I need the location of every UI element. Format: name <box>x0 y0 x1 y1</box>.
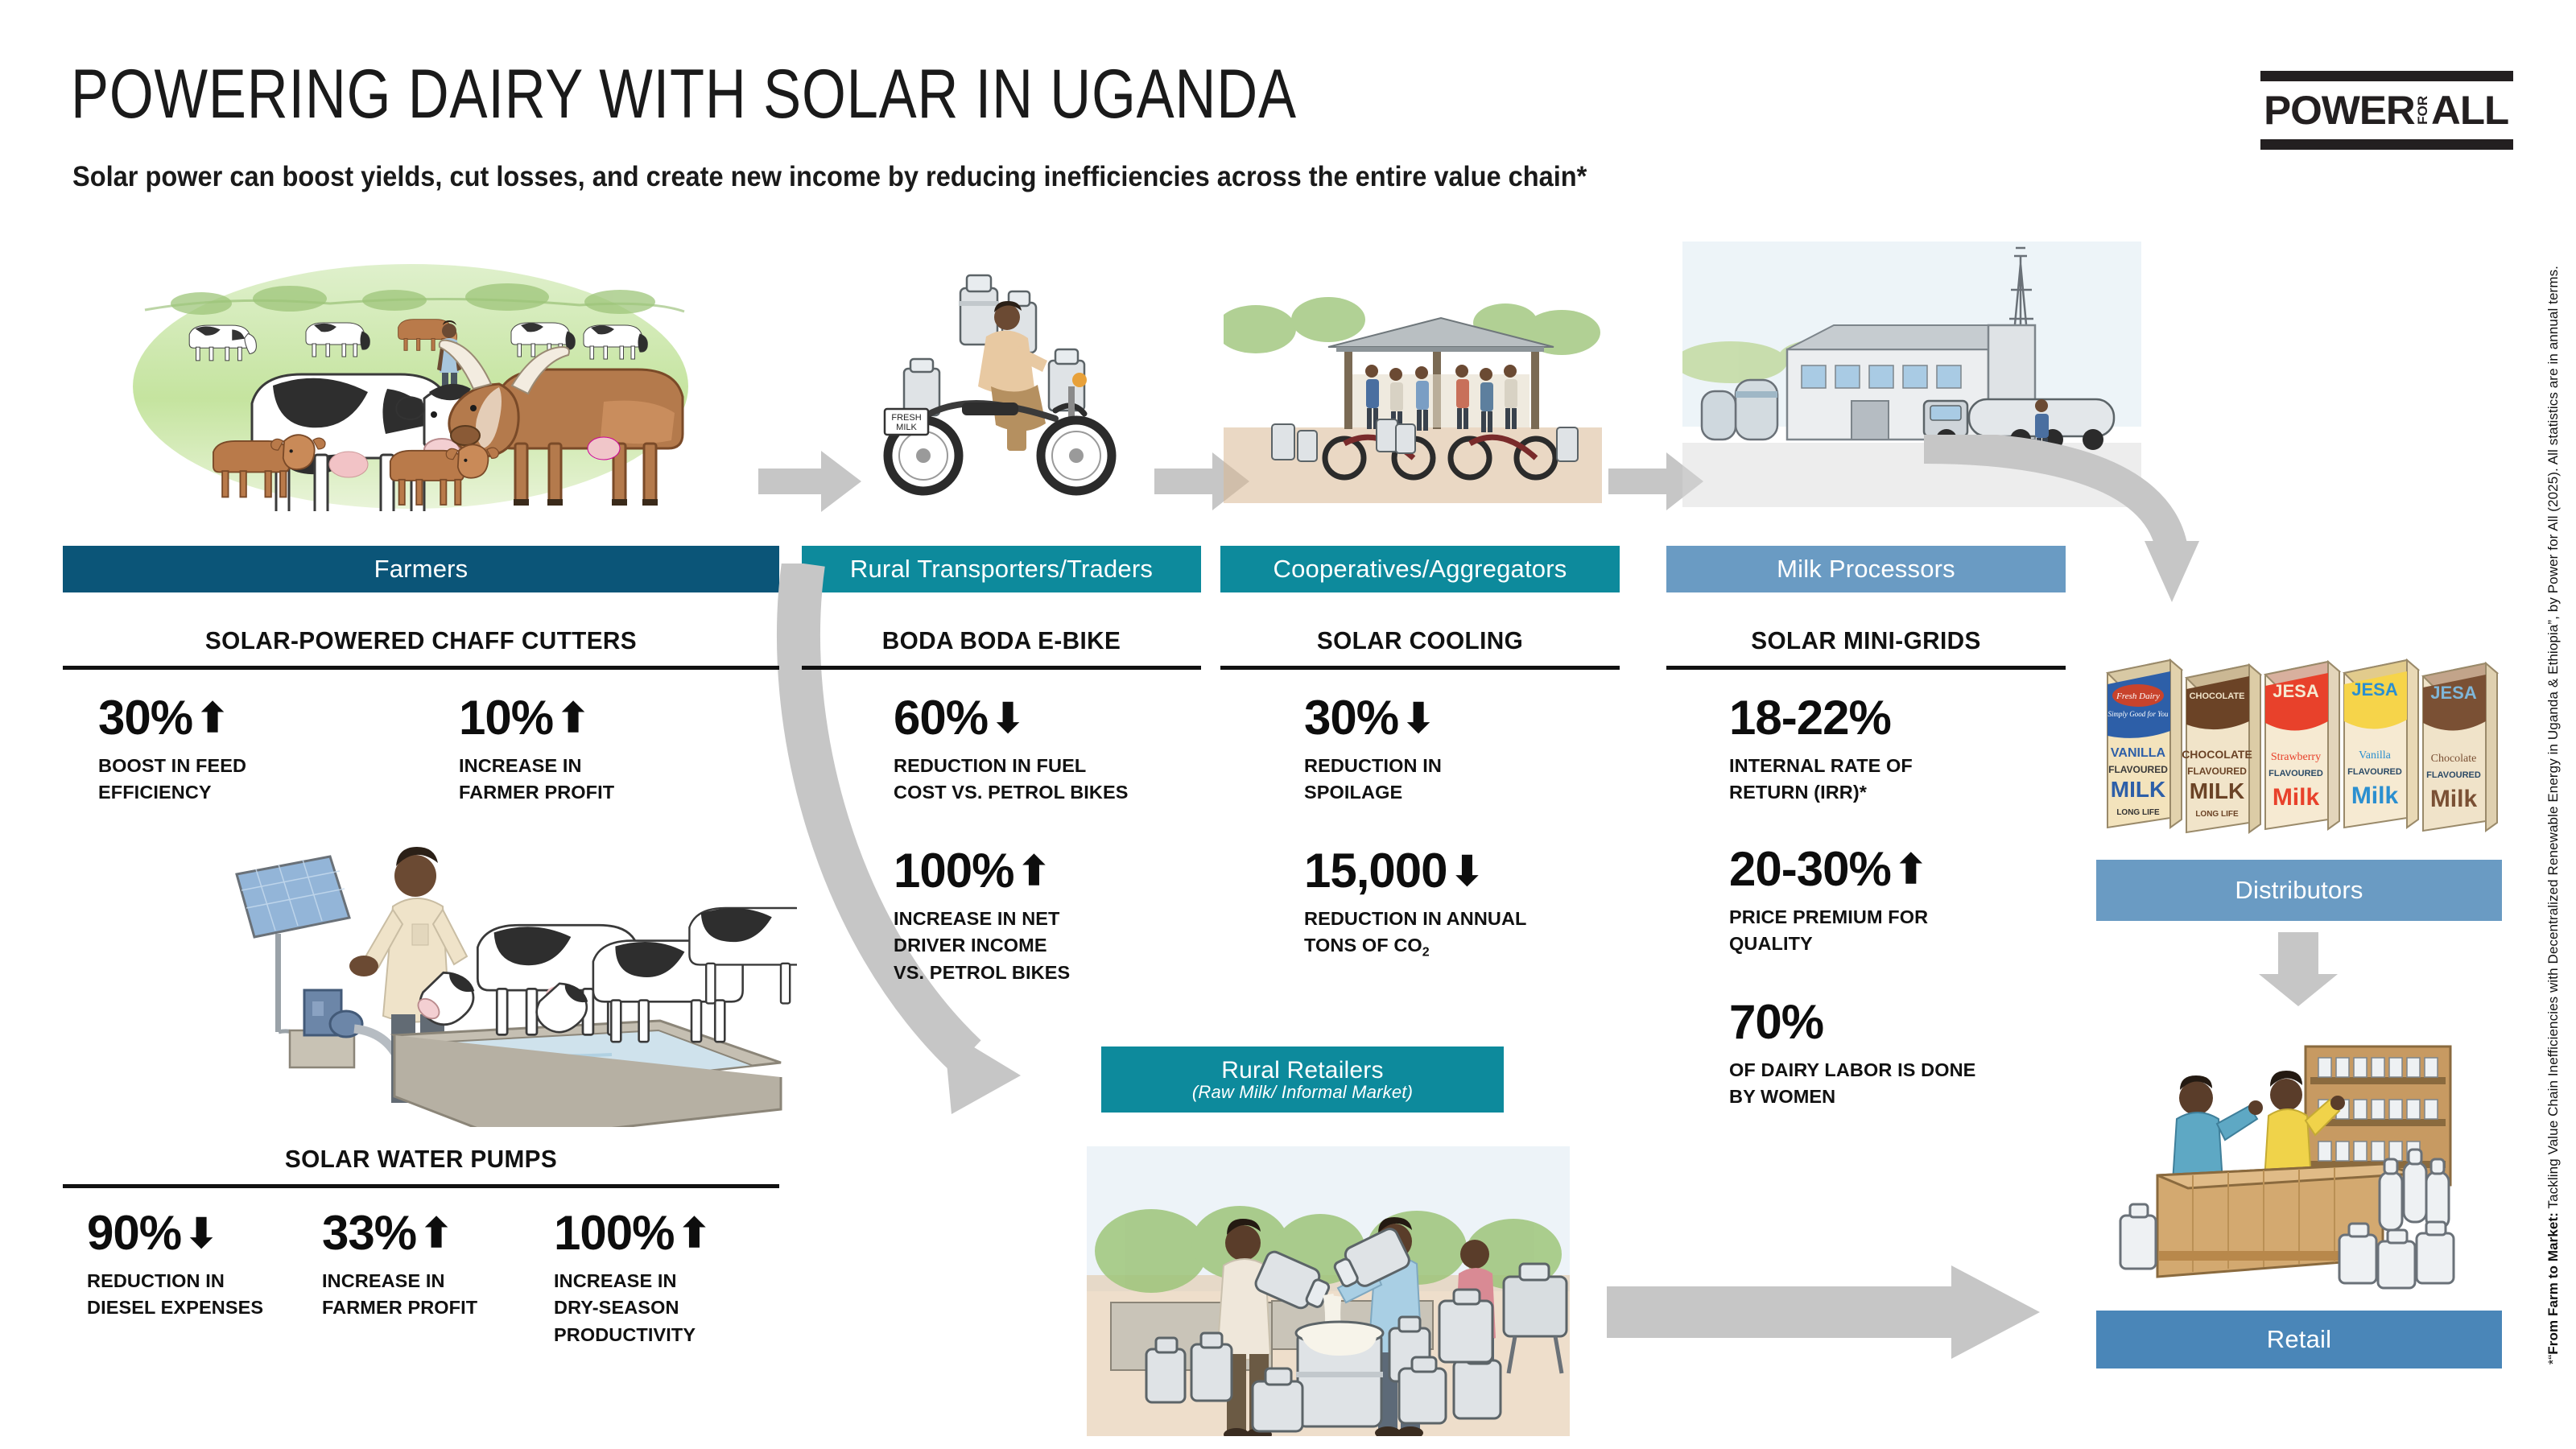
stat-price-premium-quality: 20-30% ⬆ PRICE PREMIUM FORQUALITY <box>1729 845 2067 958</box>
stage-bar-farmers[interactable]: Farmers <box>63 546 779 592</box>
retail-shop-illustration <box>2109 1014 2479 1304</box>
flow-arrow-distributors-to-retail <box>2246 932 2351 1006</box>
stat-value: 100% ⬆ <box>894 847 1216 895</box>
arrow-up-icon: ⬆ <box>419 1213 452 1253</box>
stat-value: 60% ⬇ <box>894 694 1216 742</box>
svg-text:MILK: MILK <box>2111 777 2165 802</box>
logo-bar-bottom <box>2260 139 2513 150</box>
solar-water-pump-trough-illustration <box>233 805 797 1127</box>
co2-subscript: 2 <box>1422 946 1430 960</box>
stat-number: 70% <box>1729 998 1823 1046</box>
stat-label: INCREASE INFARMER PROFIT <box>459 753 765 807</box>
stage-bar-retail[interactable]: Retail <box>2096 1311 2502 1368</box>
svg-text:JESA: JESA <box>2351 679 2398 700</box>
section-mini-grids: SOLAR MINI-GRIDS <box>1666 626 2066 670</box>
stat-dairy-labor-women: 70% OF DAIRY LABOR IS DONEBY WOMEN <box>1729 998 2083 1111</box>
svg-text:LONG LIFE: LONG LIFE <box>2116 808 2160 817</box>
svg-text:FLAVOURED: FLAVOURED <box>2426 770 2481 780</box>
stat-reduction-spoilage: 30% ⬇ REDUCTION INSPOILAGE <box>1304 694 1626 807</box>
svg-text:MILK: MILK <box>896 423 917 432</box>
stat-label: REDUCTION IN ANNUALTONS OF CO2 <box>1304 906 1642 963</box>
stat-label: OF DAIRY LABOR IS DONEBY WOMEN <box>1729 1057 2083 1111</box>
svg-text:Milk: Milk <box>2430 786 2478 812</box>
logo-bar-top <box>2260 71 2513 81</box>
arrow-up-icon: ⬆ <box>196 698 229 738</box>
cows-in-pasture-illustration <box>129 246 692 511</box>
rural-retailers-milk-cans-illustration <box>1079 1130 1578 1436</box>
svg-text:Chocolate: Chocolate <box>2431 753 2477 765</box>
boda-boda-milk-transport-illustration: FRESH MILK <box>865 266 1131 507</box>
logo-word-for: FOR <box>2416 96 2429 125</box>
cooperative-collection-point-illustration <box>1224 270 1602 503</box>
section-title-chaff-cutters: SOLAR-POWERED CHAFF CUTTERS <box>77 626 765 655</box>
stat-value: 100% ⬆ <box>554 1209 795 1257</box>
stage-bar-cooperatives[interactable]: Cooperatives/Aggregators <box>1220 546 1620 592</box>
stat-label: INCREASE INDRY-SEASONPRODUCTIVITY <box>554 1268 795 1348</box>
svg-text:Milk: Milk <box>2273 784 2320 811</box>
section-rule <box>1666 666 2066 670</box>
svg-text:FLAVOURED: FLAVOURED <box>2268 769 2323 778</box>
arrow-up-icon: ⬆ <box>677 1213 710 1253</box>
stat-number: 100% <box>894 847 1013 895</box>
stage-label-distributors: Distributors <box>2235 876 2363 905</box>
stage-label-retail: Retail <box>2267 1325 2331 1354</box>
stat-number: 30% <box>1304 694 1398 742</box>
svg-text:JESA: JESA <box>2273 681 2319 701</box>
svg-text:Fresh Dairy: Fresh Dairy <box>2116 691 2160 701</box>
stat-number: 10% <box>459 694 553 742</box>
section-title-water-pumps: SOLAR WATER PUMPS <box>77 1145 765 1174</box>
svg-text:JESA: JESA <box>2430 683 2477 703</box>
stat-number: 60% <box>894 694 988 742</box>
source-footnote: *“From Farm to Market: Tackling Value Ch… <box>2545 266 2562 1364</box>
footnote-title: From Farm to Market: <box>2545 1212 2561 1355</box>
stage-sublabel-rural-retailers: (Raw Milk/ Informal Market) <box>1192 1083 1413 1101</box>
stat-internal-rate-of-return: 18-22% INTERNAL RATE OFRETURN (IRR)* <box>1729 694 2067 807</box>
stat-value: 90% ⬇ <box>87 1209 312 1257</box>
section-solar-cooling: SOLAR COOLING <box>1220 626 1620 670</box>
stat-boost-feed-efficiency: 30% ⬆ BOOST IN FEEDEFFICIENCY <box>98 694 404 807</box>
stat-value: 18-22% <box>1729 694 2067 742</box>
svg-text:CHOCOLATE: CHOCOLATE <box>2190 691 2245 701</box>
svg-text:Simply Good for You: Simply Good for You <box>2108 710 2169 718</box>
stat-label: PRICE PREMIUM FORQUALITY <box>1729 904 2067 958</box>
stat-value: 33% ⬆ <box>322 1209 547 1257</box>
stage-label-rural-retailers: Rural Retailers <box>1221 1058 1383 1084</box>
arrow-down-icon: ⬇ <box>184 1213 217 1253</box>
svg-text:FLAVOURED: FLAVOURED <box>2347 767 2402 777</box>
section-title-mini-grids: SOLAR MINI-GRIDS <box>1674 626 2058 655</box>
svg-text:FLAVOURED: FLAVOURED <box>2108 764 2168 775</box>
section-title-solar-cooling: SOLAR COOLING <box>1228 626 1612 655</box>
arrow-up-icon: ⬆ <box>1017 851 1050 891</box>
stat-value: 30% ⬇ <box>1304 694 1626 742</box>
logo-wordmark: POWER FOR ALL <box>2260 87 2513 134</box>
stat-label: BOOST IN FEEDEFFICIENCY <box>98 753 404 807</box>
footnote-rest: Tackling Value Chain Inefficiencies with… <box>2545 266 2561 1212</box>
power-for-all-logo: POWER FOR ALL <box>2260 71 2513 150</box>
arrow-up-icon: ⬆ <box>1894 849 1927 890</box>
stage-label-milk-processors: Milk Processors <box>1777 555 1955 584</box>
footnote-prefix: *“ <box>2545 1355 2561 1364</box>
stat-number: 33% <box>322 1209 416 1257</box>
stat-label: REDUCTION IN FUELCOST VS. PETROL BIKES <box>894 753 1216 807</box>
stat-number: 90% <box>87 1209 181 1257</box>
flow-arrow-to-distributors <box>1916 435 2254 644</box>
svg-text:VANILLA: VANILLA <box>2111 746 2166 760</box>
page-title: POWERING DAIRY WITH SOLAR IN UGANDA <box>71 55 1297 134</box>
stat-reduction-annual-co2: 15,000 ⬇ REDUCTION IN ANNUALTONS OF CO2 <box>1304 847 1642 963</box>
stat-reduction-diesel-expenses: 90% ⬇ REDUCTION INDIESEL EXPENSES <box>87 1209 312 1322</box>
stage-bar-distributors[interactable]: Distributors <box>2096 860 2502 921</box>
svg-text:Milk: Milk <box>2351 782 2399 809</box>
stat-value: 20-30% ⬆ <box>1729 845 2067 894</box>
flow-arrow-to-retail <box>1607 1264 2041 1360</box>
section-rule <box>63 666 779 670</box>
stat-value: 70% <box>1729 998 2083 1046</box>
stat-increase-farmer-profit-chaff: 10% ⬆ INCREASE INFARMER PROFIT <box>459 694 765 807</box>
section-boda-boda: BODA BODA E-BIKE <box>802 626 1201 670</box>
section-chaff-cutters: SOLAR-POWERED CHAFF CUTTERS <box>63 626 779 670</box>
svg-text:Vanilla: Vanilla <box>2359 749 2391 762</box>
stat-value: 30% ⬆ <box>98 694 404 742</box>
stage-bar-milk-processors[interactable]: Milk Processors <box>1666 546 2066 592</box>
stat-label: INTERNAL RATE OFRETURN (IRR)* <box>1729 753 2067 807</box>
svg-text:FLAVOURED: FLAVOURED <box>2187 766 2247 777</box>
section-title-boda-boda: BODA BODA E-BIKE <box>810 626 1193 655</box>
arrow-up-icon: ⬆ <box>556 698 589 738</box>
stat-number: 20-30% <box>1729 845 1891 894</box>
section-rule <box>802 666 1201 670</box>
stat-increase-net-driver-income: 100% ⬆ INCREASE IN NETDRIVER INCOMEVS. P… <box>894 847 1216 986</box>
section-water-pumps: SOLAR WATER PUMPS <box>63 1145 779 1188</box>
stat-increase-farmer-profit-pump: 33% ⬆ INCREASE INFARMER PROFIT <box>322 1209 547 1322</box>
stat-number: 30% <box>98 694 192 742</box>
stat-number: 100% <box>554 1209 674 1257</box>
arrow-down-icon: ⬇ <box>1402 698 1435 738</box>
stat-label: INCREASE INFARMER PROFIT <box>322 1268 547 1322</box>
section-rule <box>63 1184 779 1188</box>
section-rule <box>1220 666 1620 670</box>
svg-text:CHOCOLATE: CHOCOLATE <box>2182 748 2252 761</box>
logo-word-power: POWER <box>2264 87 2416 134</box>
arrow-down-icon: ⬇ <box>1451 851 1484 891</box>
svg-text:FRESH: FRESH <box>891 413 921 423</box>
stat-reduction-fuel-cost: 60% ⬇ REDUCTION IN FUELCOST VS. PETROL B… <box>894 694 1216 807</box>
stat-label: REDUCTION INDIESEL EXPENSES <box>87 1268 312 1322</box>
stat-increase-dry-season-productivity: 100% ⬆ INCREASE INDRY-SEASONPRODUCTIVITY <box>554 1209 795 1348</box>
milk-cartons-illustration: Fresh Dairy Simply Good for You VANILLA … <box>2099 644 2502 844</box>
stage-label-farmers: Farmers <box>374 555 469 584</box>
stat-number: 18-22% <box>1729 694 1891 742</box>
stat-label: REDUCTION INSPOILAGE <box>1304 753 1626 807</box>
stage-label-cooperatives: Cooperatives/Aggregators <box>1274 555 1567 584</box>
stat-value: 10% ⬆ <box>459 694 765 742</box>
stat-number: 15,000 <box>1304 847 1447 895</box>
svg-text:LONG LIFE: LONG LIFE <box>2195 810 2239 819</box>
flow-arrow-1 <box>758 449 863 514</box>
infographic-canvas: POWERING DAIRY WITH SOLAR IN UGANDA Sola… <box>0 0 2576 1449</box>
svg-text:MILK: MILK <box>2190 778 2244 803</box>
svg-text:Strawberry: Strawberry <box>2271 751 2321 763</box>
page-subtitle: Solar power can boost yields, cut losses… <box>72 161 1587 193</box>
arrow-down-icon: ⬇ <box>991 698 1024 738</box>
stat-value: 15,000 ⬇ <box>1304 847 1642 895</box>
logo-word-all: ALL <box>2431 87 2508 134</box>
stat-label: INCREASE IN NETDRIVER INCOMEVS. PETROL B… <box>894 906 1216 986</box>
